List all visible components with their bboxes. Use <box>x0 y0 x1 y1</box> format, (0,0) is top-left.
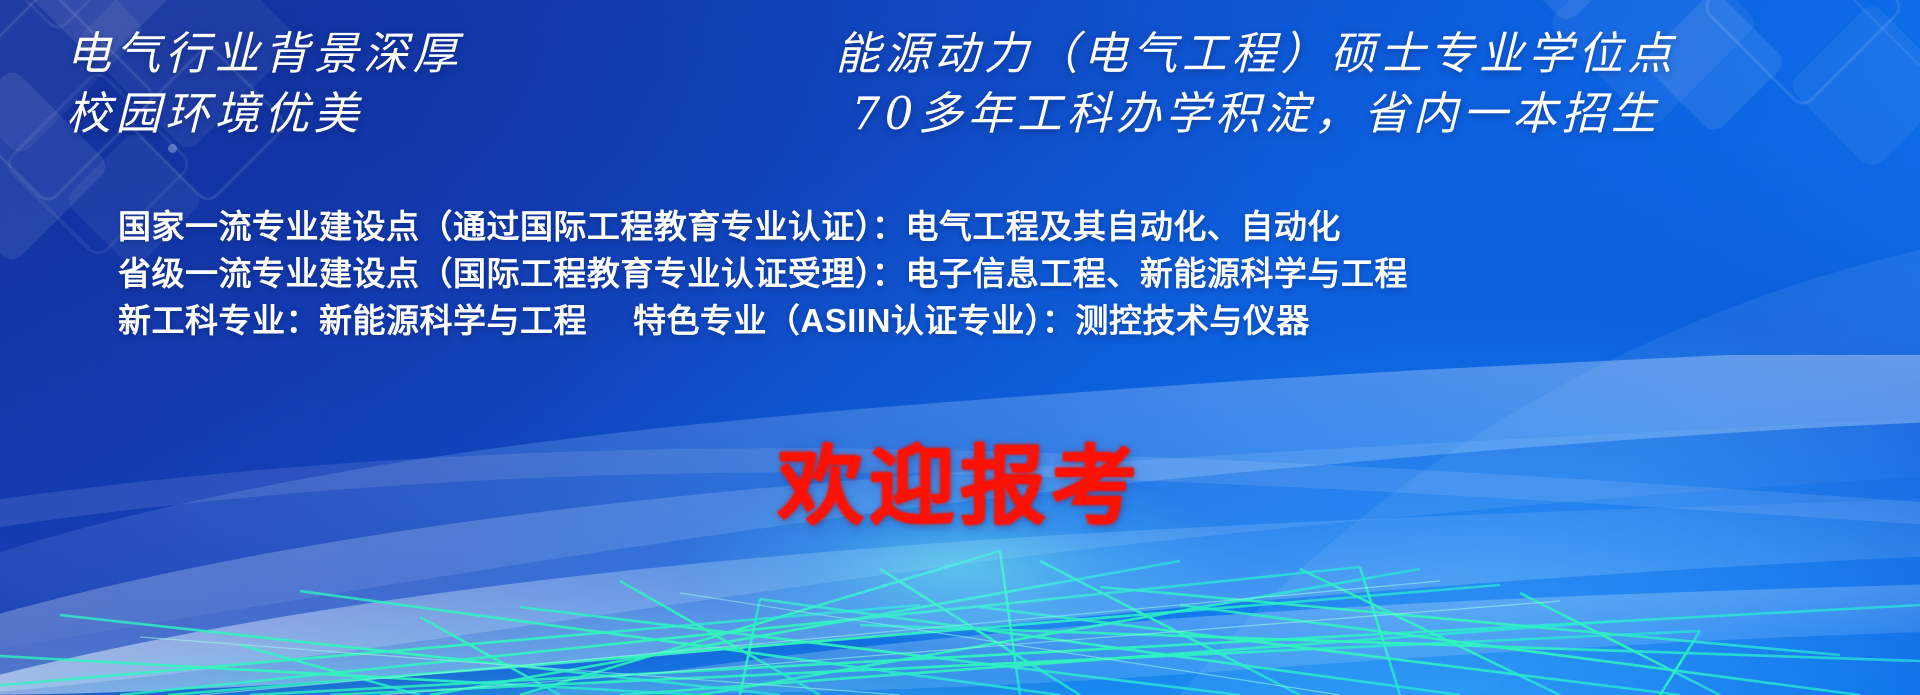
program-line-provincial-value: 电子信息工程、新能源科学与工程 <box>905 255 1407 292</box>
headline-left: 电气行业背景深厚 校园环境优美 <box>66 24 462 144</box>
admissions-banner: 电气行业背景深厚 校园环境优美 能源动力（电气工程）硕士专业学位点 70多年工科… <box>0 0 1920 695</box>
headline-left-line-1: 电气行业背景深厚 <box>66 24 462 84</box>
headline-right-line-2: 70多年工科办学积淀，省内一本招生 <box>646 84 1866 144</box>
program-line-provincial-label: 省级一流专业建设点（国际工程教育专业认证受理）： <box>118 255 905 292</box>
program-line-national-label: 国家一流专业建设点（通过国际工程教育专业认证）： <box>118 208 905 245</box>
program-line-newengineering-value: 新能源科学与工程 <box>319 302 587 339</box>
program-line-newengineering-label: 新工科专业： <box>118 302 319 339</box>
cta-welcome-apply: 欢迎报考 <box>0 416 1920 541</box>
program-line-featured-label: 特色专业（ASIIN认证专业）： <box>633 302 1075 339</box>
program-line-national: 国家一流专业建设点（通过国际工程教育专业认证）：电气工程及其自动化、自动化 <box>118 203 1878 250</box>
program-line-national-value: 电气工程及其自动化、自动化 <box>905 208 1340 245</box>
headline-right: 能源动力（电气工程）硕士专业学位点 70多年工科办学积淀，省内一本招生 <box>646 24 1866 144</box>
headline-right-line-1: 能源动力（电气工程）硕士专业学位点 <box>646 24 1866 84</box>
program-list: 国家一流专业建设点（通过国际工程教育专业认证）：电气工程及其自动化、自动化 省级… <box>118 203 1878 344</box>
program-line-newengineering: 新工科专业：新能源科学与工程特色专业（ASIIN认证专业）：测控技术与仪器 <box>118 297 1878 344</box>
program-line-featured-value: 测控技术与仪器 <box>1075 302 1309 339</box>
headline-left-line-2: 校园环境优美 <box>66 84 462 144</box>
program-line-provincial: 省级一流专业建设点（国际工程教育专业认证受理）：电子信息工程、新能源科学与工程 <box>118 250 1878 297</box>
